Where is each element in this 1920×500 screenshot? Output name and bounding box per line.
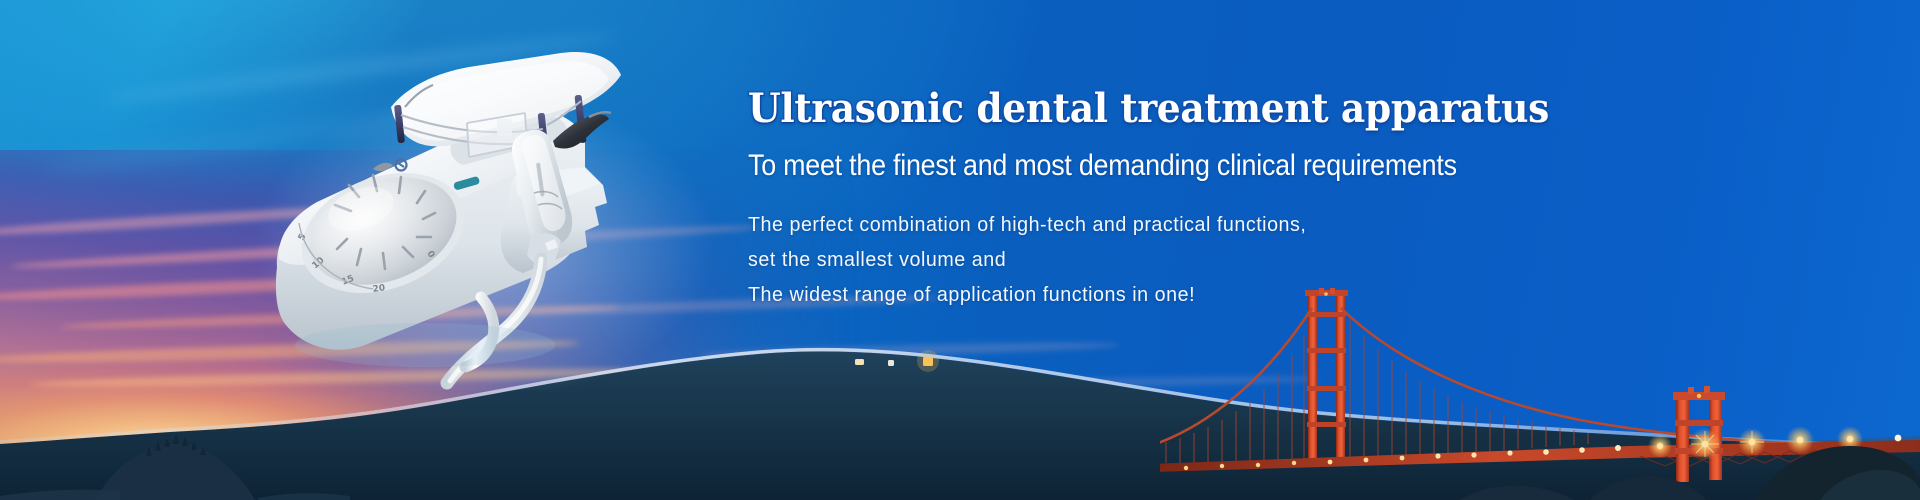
body-line: The widest range of application function… [748,277,1545,312]
bridge-far-tower [1305,288,1348,460]
page-title: Ultrasonic dental treatment apparatus [748,88,1528,130]
subtitle: To meet the finest and most demanding cl… [748,149,1503,183]
product-hero-banner: 5 10 15 20 0 [0,0,1920,500]
body-copy: The perfect combination of high-tech and… [748,207,1578,312]
body-line: The perfect combination of high-tech and… [748,207,1545,242]
headland-rock [1460,486,1574,500]
body-line: set the smallest volume and [748,242,1545,277]
bridge-suspenders [1350,318,1588,461]
bridge-suspenders [1166,335,1304,463]
tower-beacon-light [1697,394,1701,398]
ridge-light-glow [917,350,939,372]
ridge-light [888,360,894,366]
device-shadow [295,323,555,367]
banner-text-block: Ultrasonic dental treatment apparatus To… [748,88,1578,312]
ridge-light [855,359,864,365]
svg-text:20: 20 [372,283,386,295]
ultrasonic-dental-scaler-unit: 5 10 15 20 0 [255,45,715,390]
bridge-main-cable [1341,308,1800,444]
